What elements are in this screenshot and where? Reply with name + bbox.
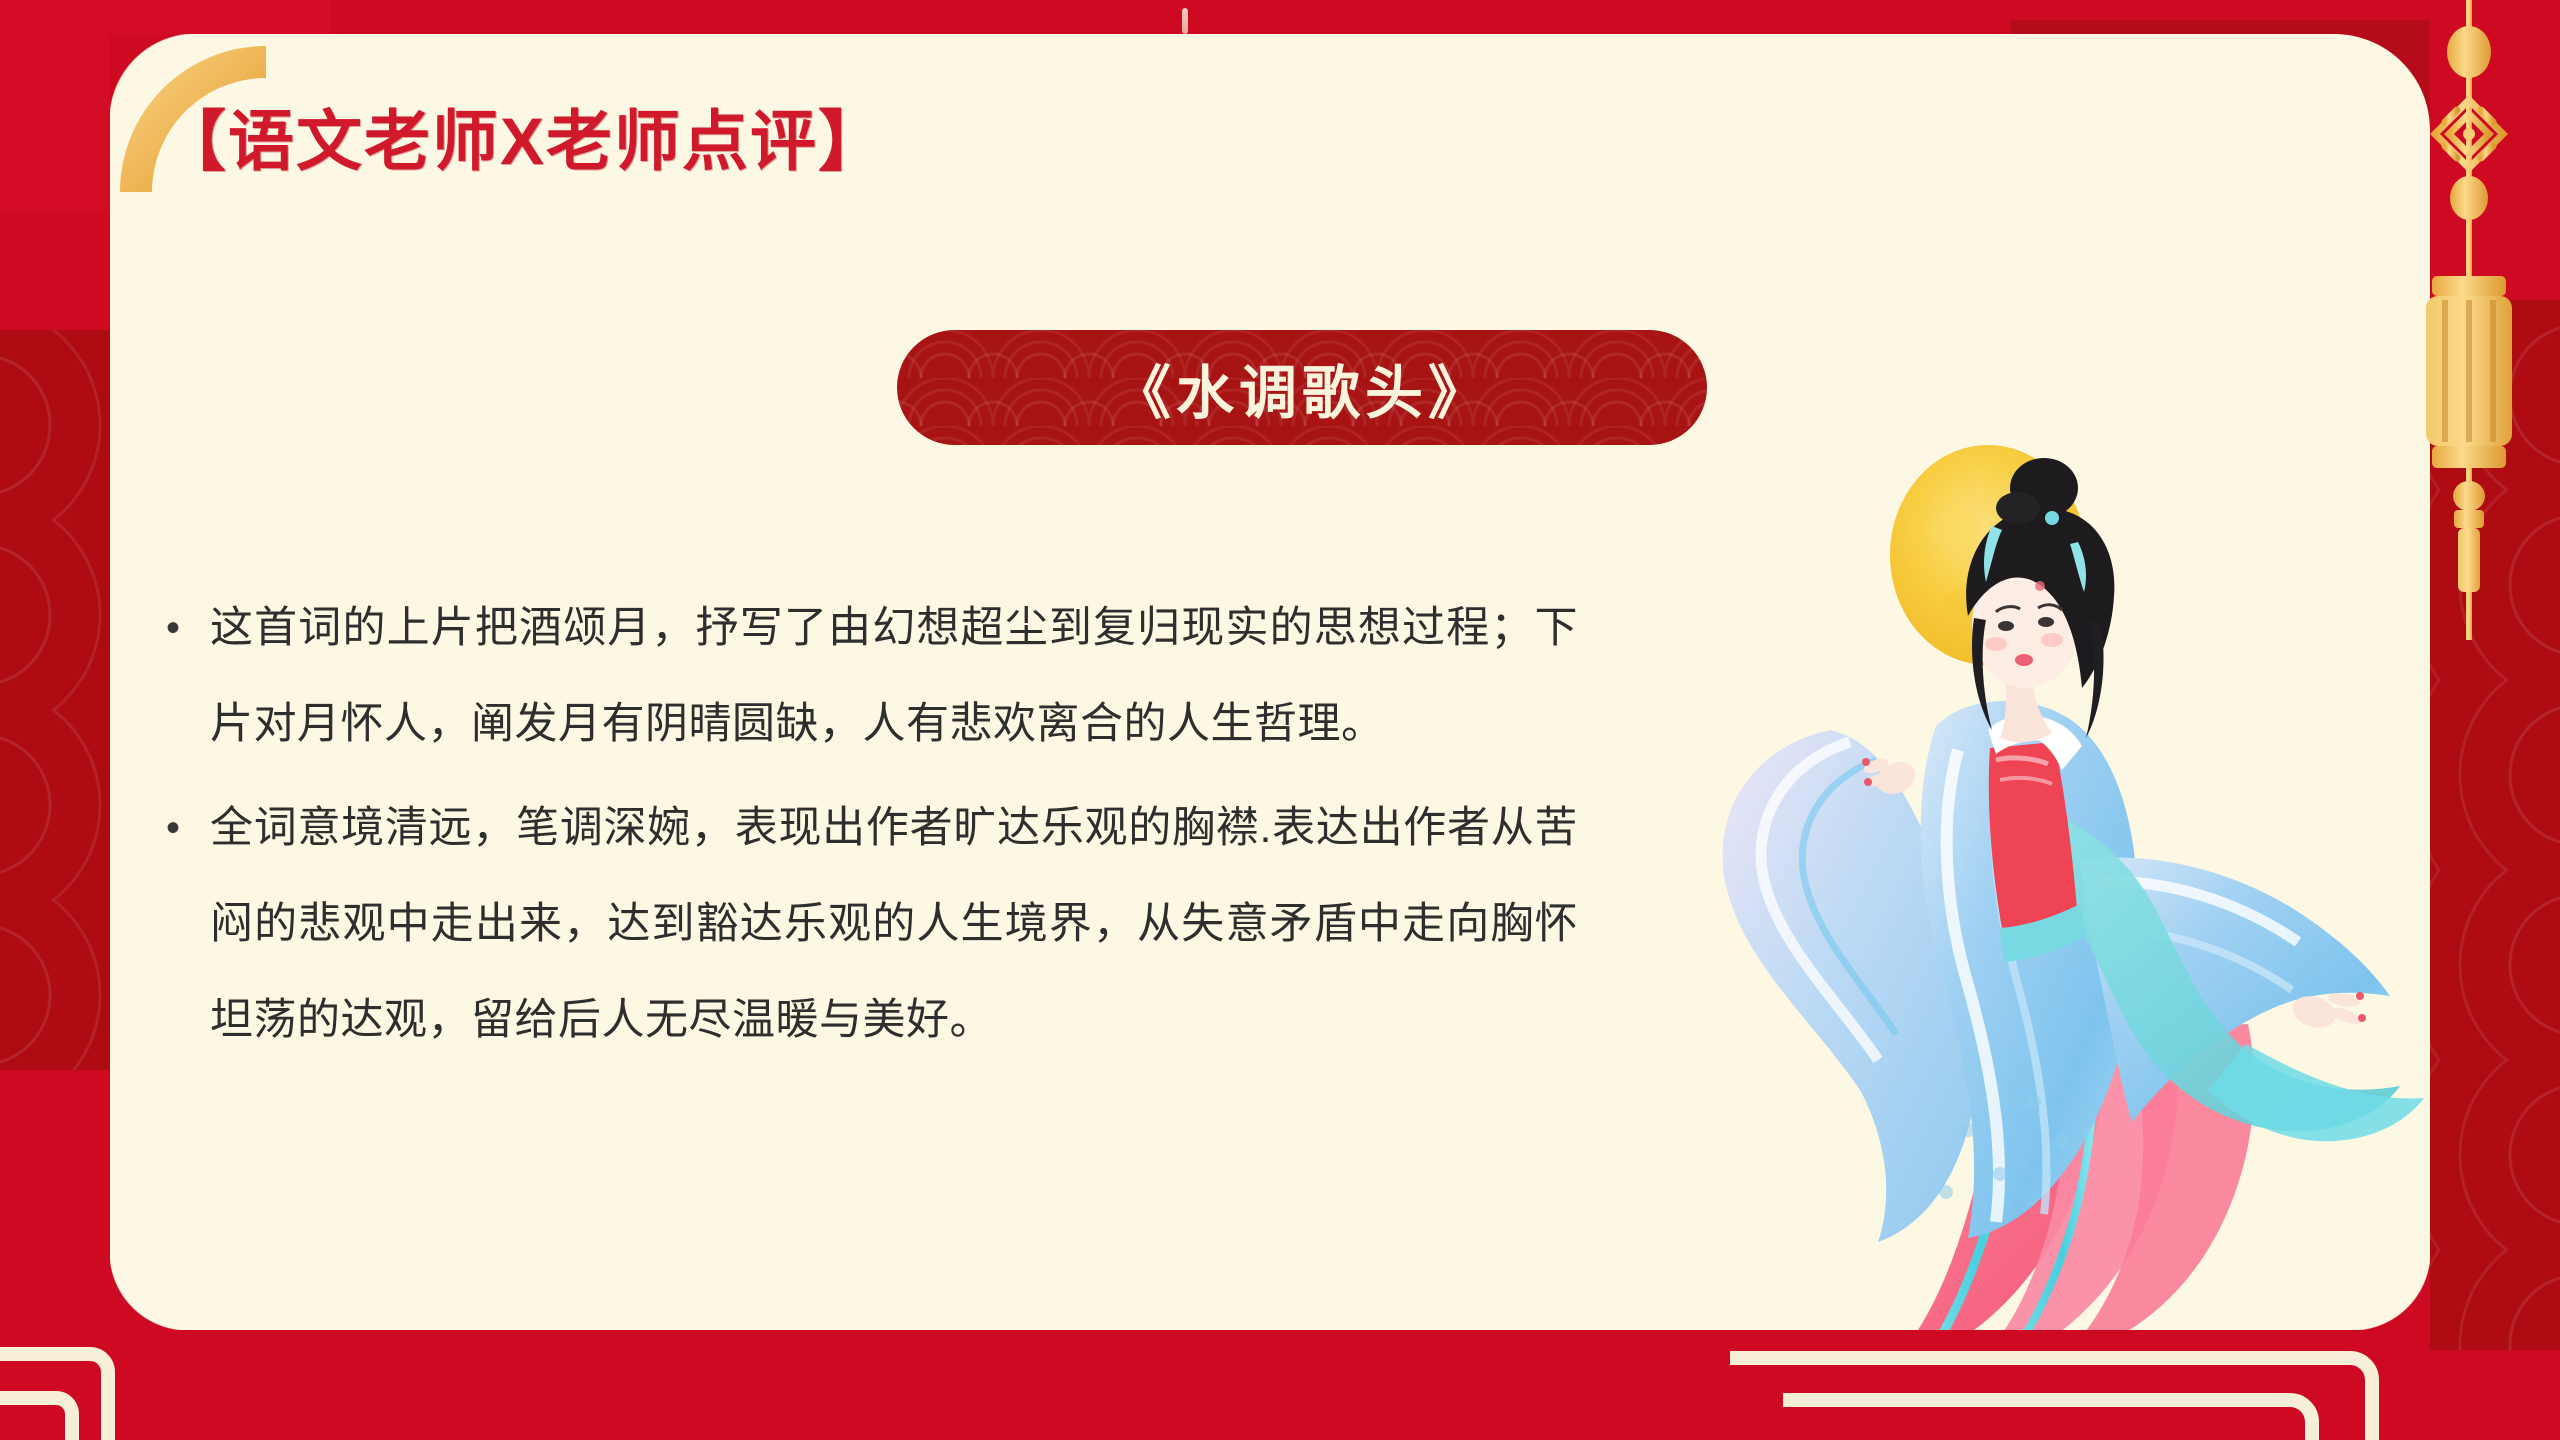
bead-bottom xyxy=(2453,481,2485,511)
bead-mid xyxy=(2450,176,2488,220)
list-item-text: 这首词的上片把酒颂月，抒写了由幻想超尘到复归现实的思想过程；下片对月怀人，阐发月… xyxy=(210,580,1578,772)
chinese-knot-lantern-ornament xyxy=(2414,0,2524,640)
slide-root: 【语文老师X老师点评】 《水调歌头》 • 这首词的上片把酒颂月，抒写了由幻想超尘… xyxy=(0,0,2560,1440)
list-item-text: 全词意境清远，笔调深婉，表现出作者旷达乐观的胸襟.表达出作者从苦闷的悲观中走出来… xyxy=(210,780,1578,1068)
top-edge-tick-mark xyxy=(1182,8,1188,34)
bottom-meander-pattern xyxy=(1730,1330,2430,1440)
page-title: 【语文老师X老师点评】 xyxy=(160,108,886,174)
chinese-knot-icon xyxy=(2435,100,2503,168)
bottom-left-meander-pattern xyxy=(0,1330,200,1440)
poem-title-badge-label: 《水调歌头》 xyxy=(1113,346,1491,430)
commentary-bullet-list: • 这首词的上片把酒颂月，抒写了由幻想超尘到复归现实的思想过程；下片对月怀人，阐… xyxy=(158,580,1578,1076)
bullet-marker-icon: • xyxy=(158,780,210,876)
tassel xyxy=(2458,528,2480,592)
list-item: • 全词意境清远，笔调深婉，表现出作者旷达乐观的胸襟.表达出作者从苦闷的悲观中走… xyxy=(158,780,1578,1068)
lantern-icon xyxy=(2426,276,2512,468)
bead-top xyxy=(2447,26,2491,78)
left-dark-red-texture-strip xyxy=(0,330,112,1070)
bullet-marker-icon: • xyxy=(158,580,210,676)
poem-title-badge[interactable]: 《水调歌头》 xyxy=(897,330,1707,445)
list-item: • 这首词的上片把酒颂月，抒写了由幻想超尘到复归现实的思想过程；下片对月怀人，阐… xyxy=(158,580,1578,772)
arc-texture-pattern xyxy=(0,330,112,1070)
card-corner-notch-bottom-left xyxy=(110,1252,188,1330)
change-illustration xyxy=(1700,430,2460,1330)
